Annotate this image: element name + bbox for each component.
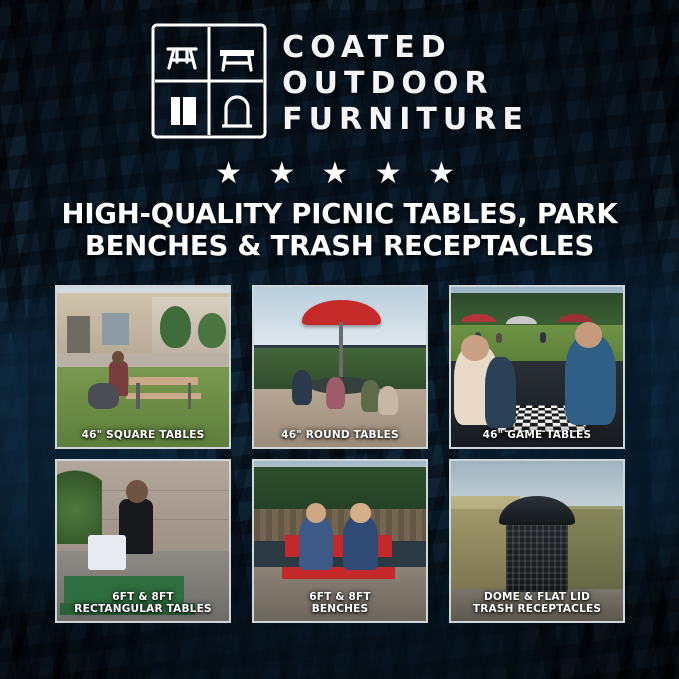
person-left xyxy=(292,370,313,405)
photo-game-tables xyxy=(451,287,623,447)
tile-caption: 46" SQUARE TABLES xyxy=(57,425,229,447)
tile-square-tables[interactable]: 46" SQUARE TABLES xyxy=(55,285,231,449)
tree-2 xyxy=(198,313,226,348)
tile-caption-line-2: RECTANGULAR TABLES xyxy=(59,603,227,615)
window xyxy=(102,313,130,345)
crowd-figure xyxy=(496,333,502,343)
crowd-figure xyxy=(540,332,546,343)
child-left xyxy=(299,515,333,569)
concrete-path xyxy=(57,353,229,367)
tile-benches[interactable]: 6FT & 8FT BENCHES xyxy=(252,459,428,623)
tile-caption: 46" ROUND TABLES xyxy=(254,425,426,447)
tile-caption-line-1: 6FT & 8FT xyxy=(112,591,174,603)
brand-logo: COATED OUTDOOR FURNITURE xyxy=(0,22,679,140)
tile-caption-line-1: 6FT & 8FT xyxy=(309,591,371,603)
tile-caption-line-1: DOME & FLAT LID xyxy=(484,591,590,603)
tile-caption: 6FT & 8FT BENCHES xyxy=(254,587,426,621)
tile-trash-receptacles[interactable]: DOME & FLAT LID TRASH RECEPTACLES xyxy=(449,459,625,623)
child-right-head xyxy=(350,503,371,524)
tile-caption: DOME & FLAT LID TRASH RECEPTACLES xyxy=(451,587,623,621)
player-left-2 xyxy=(485,357,516,427)
tile-game-tables[interactable]: 46" GAME TABLES xyxy=(449,285,625,449)
tile-caption-line-1: 46" ROUND TABLES xyxy=(281,429,399,441)
tile-caption: 46" GAME TABLES xyxy=(451,425,623,447)
product-banner-image: COATED OUTDOOR FURNITURE ★ ★ ★ ★ ★ HIGH-… xyxy=(0,0,679,679)
event-tent-red-2 xyxy=(558,314,592,322)
child-right xyxy=(361,380,380,412)
brand-word-1: COATED xyxy=(282,30,529,66)
event-tent-red xyxy=(461,314,495,322)
rating-stars: ★ ★ ★ ★ ★ xyxy=(0,158,679,190)
player-left-head xyxy=(461,335,489,361)
player-right xyxy=(565,335,617,425)
person-head xyxy=(112,351,124,364)
tree-line xyxy=(451,293,623,328)
headline-line-2: BENCHES & TRASH RECEPTACLES xyxy=(34,230,645,262)
brand-word-2: OUTDOOR xyxy=(282,66,529,102)
trash-receptacle-body xyxy=(506,522,568,592)
table-leg-left xyxy=(136,383,139,409)
tile-caption: 6FT & 8FT RECTANGULAR TABLES xyxy=(57,587,229,621)
tile-round-tables[interactable]: 46" ROUND TABLES xyxy=(252,285,428,449)
brand-word-3: FURNITURE xyxy=(282,102,529,138)
photo-round-tables xyxy=(254,287,426,447)
product-category-grid: 46" SQUARE TABLES 46" xyxy=(55,285,625,623)
umbrella-pole xyxy=(339,322,343,383)
page-title: HIGH-QUALITY PICNIC TABLES, PARK BENCHES… xyxy=(34,198,645,262)
player-right-head xyxy=(575,322,603,348)
shopping-bag xyxy=(88,535,126,570)
dog xyxy=(88,383,119,409)
woman-head xyxy=(126,480,148,502)
tile-caption-line-1: 46" GAME TABLES xyxy=(483,429,592,441)
tile-rectangular-tables[interactable]: 6FT & 8FT RECTANGULAR TABLES xyxy=(55,459,231,623)
child-right xyxy=(343,515,377,569)
tile-caption-line-1: 46" SQUARE TABLES xyxy=(82,429,205,441)
shrub xyxy=(57,461,102,544)
tile-caption-line-2: BENCHES xyxy=(256,603,424,615)
headline-line-1: HIGH-QUALITY PICNIC TABLES, PARK xyxy=(62,198,618,230)
table-leg-right xyxy=(188,383,191,409)
poster-content: COATED OUTDOOR FURNITURE ★ ★ ★ ★ ★ HIGH-… xyxy=(0,0,679,679)
child-center xyxy=(326,377,345,409)
brand-wordmark: COATED OUTDOOR FURNITURE xyxy=(282,22,529,138)
tile-caption-line-2: TRASH RECEPTACLES xyxy=(453,603,621,615)
photo-square-tables xyxy=(57,287,229,447)
red-bench-seat xyxy=(282,567,396,580)
child-far-right xyxy=(378,386,399,415)
tree xyxy=(160,306,191,348)
picnic-table-bench-trashcan-logo-icon xyxy=(150,22,268,140)
